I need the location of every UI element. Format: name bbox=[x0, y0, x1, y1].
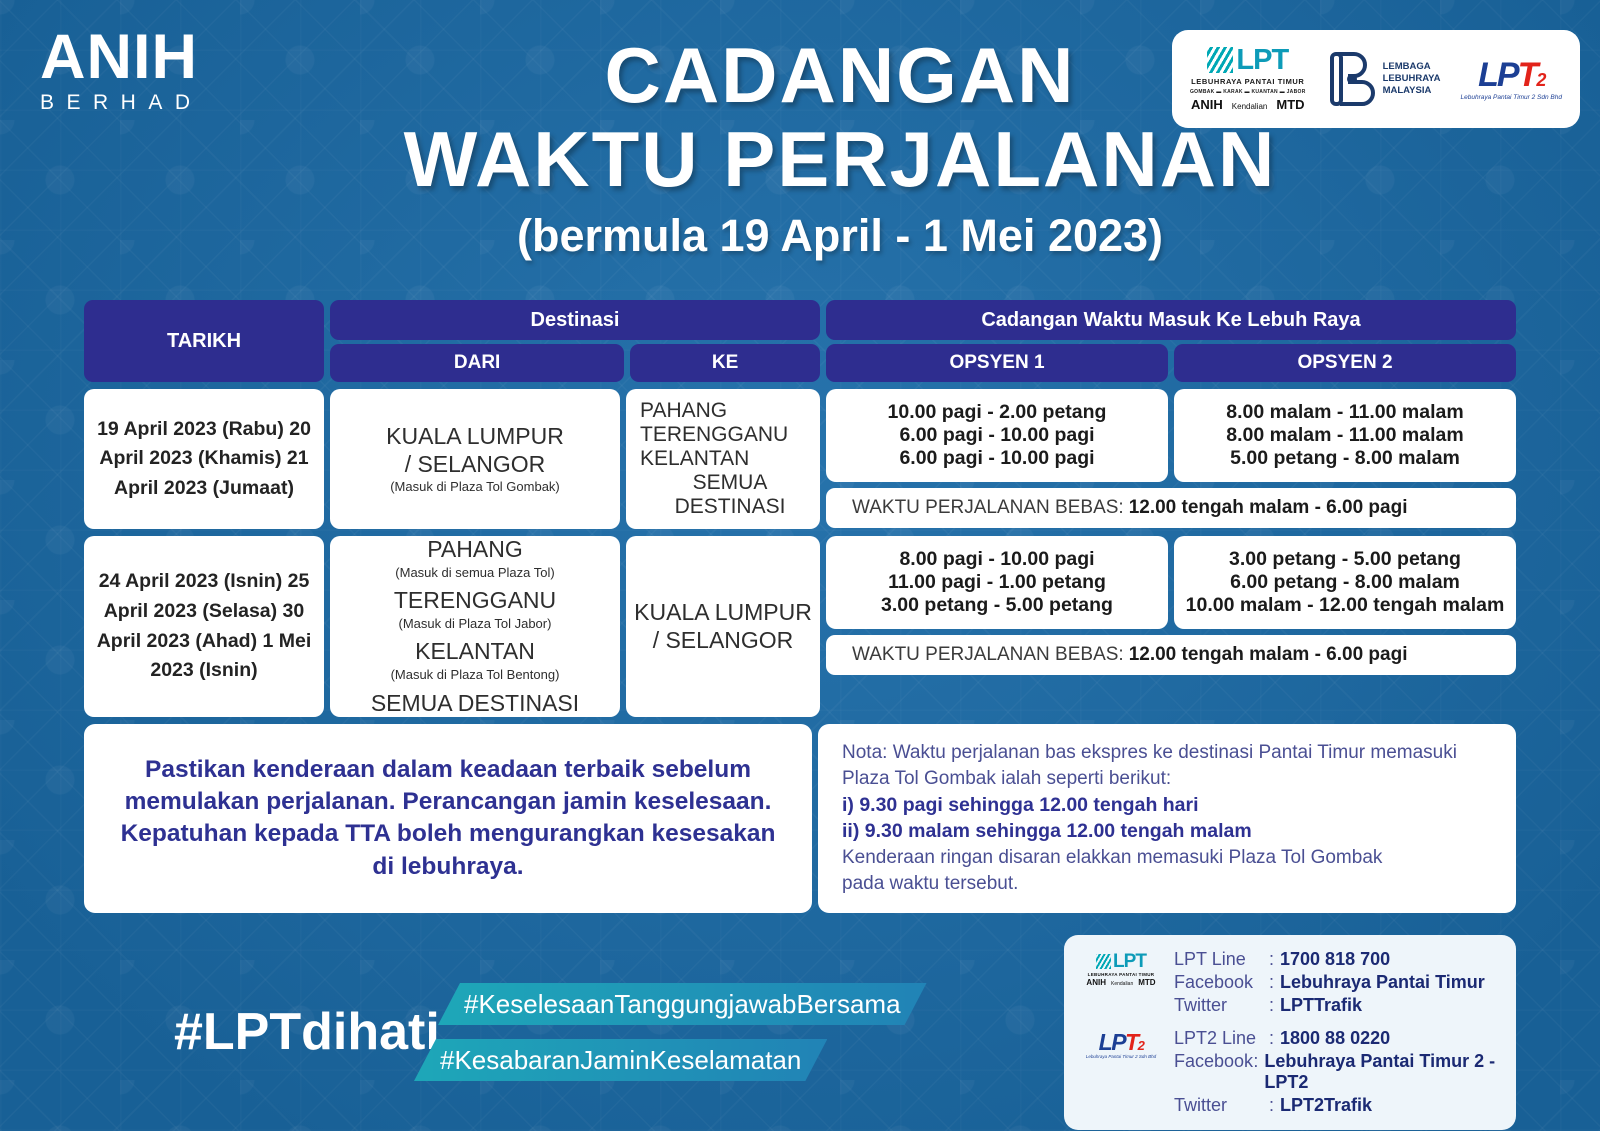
destination-item: PAHANG bbox=[640, 399, 727, 423]
contact-value[interactable]: 1800 88 0220 bbox=[1280, 1028, 1390, 1049]
contact-value[interactable]: LPT2Trafik bbox=[1280, 1095, 1372, 1116]
column-header-cadangan: Cadangan Waktu Masuk Ke Lebuh Raya bbox=[826, 300, 1516, 340]
column-header-destinasi: Destinasi bbox=[330, 300, 820, 340]
llm-line3: MALAYSIA bbox=[1383, 85, 1441, 97]
contact-separator: : bbox=[1269, 995, 1274, 1016]
origin-note: (Masuk di semua Plaza Tol) bbox=[395, 565, 554, 581]
lpt-mtd-label: MTD bbox=[1276, 97, 1304, 112]
lpt-anih-label: ANIH bbox=[1086, 978, 1106, 987]
poster-header: ANIH BERHAD CADANGAN WAKTU PERJALANAN (b… bbox=[0, 0, 1600, 300]
lpt2-wordmark-blue: LP bbox=[1099, 1029, 1125, 1055]
lpt-kendalian-label: Kendalian bbox=[1111, 981, 1133, 987]
nota-item1: i) 9.30 pagi sehingga 12.00 tengah hari bbox=[842, 792, 1492, 819]
advice-panel: Pastikan kenderaan dalam keadaan terbaik… bbox=[84, 724, 812, 912]
cell-opsyen1: 10.00 pagi - 2.00 petang 6.00 pagi - 10.… bbox=[826, 389, 1168, 482]
column-header-ke: KE bbox=[630, 344, 820, 382]
lpt2-wordmark-num: 2 bbox=[1536, 70, 1544, 90]
lpt2-wordmark-num: 2 bbox=[1138, 1038, 1144, 1053]
destination-item: TERENGGANU bbox=[640, 423, 788, 447]
free-travel-value: 12.00 tengah malam - 6.00 pagi bbox=[1129, 644, 1408, 666]
free-travel-bar: WAKTU PERJALANAN BEBAS: 12.00 tengah mal… bbox=[826, 488, 1516, 528]
nota-item2: ii) 9.30 malam sehingga 12.00 tengah mal… bbox=[842, 818, 1492, 845]
column-group-destinasi: Destinasi DARI KE bbox=[330, 300, 820, 382]
lpt2-wordmark-red: T bbox=[1518, 56, 1537, 94]
origin-note: (Masuk di Plaza Tol Jabor) bbox=[394, 616, 556, 632]
contact-line: LPT Line : 1700 818 700 bbox=[1174, 949, 1485, 970]
table-row: 24 April 2023 (Isnin) 25 April 2023 (Sel… bbox=[84, 536, 1516, 717]
time-slot: 3.00 petang - 5.00 petang bbox=[881, 594, 1113, 617]
origin-name: PAHANG bbox=[395, 536, 554, 564]
cell-opsyen2: 8.00 malam - 11.00 malam 8.00 malam - 11… bbox=[1174, 389, 1516, 482]
lpt-kendalian-label: Kendalian bbox=[1232, 102, 1268, 111]
contact-separator: : bbox=[1269, 972, 1274, 993]
lpt-tagline: LEBUHRAYA PANTAI TIMUR bbox=[1088, 972, 1155, 977]
contact-separator: : bbox=[1269, 1095, 1274, 1116]
advice-text: Pastikan kenderaan dalam keadaan terbaik… bbox=[108, 754, 788, 883]
origin-name: KELANTAN bbox=[391, 638, 560, 666]
column-header-tarikh: TARIKH bbox=[84, 300, 324, 382]
free-travel-label: WAKTU PERJALANAN BEBAS: bbox=[852, 644, 1124, 666]
contact-value[interactable]: Lebuhraya Pantai Timur 2 - LPT2 bbox=[1264, 1051, 1498, 1093]
free-travel-value: 12.00 tengah malam - 6.00 pagi bbox=[1129, 497, 1408, 519]
cell-tarikh: 24 April 2023 (Isnin) 25 April 2023 (Sel… bbox=[84, 536, 324, 717]
time-slot: 10.00 pagi - 2.00 petang bbox=[888, 401, 1107, 424]
origin-name: KUALA LUMPUR / SELANGOR bbox=[386, 423, 564, 478]
lembaga-lebuhraya-malaysia-logo: LEMBAGA LEBUHRAYA MALAYSIA bbox=[1326, 48, 1441, 110]
contact-line: Facebook : Lebuhraya Pantai Timur bbox=[1174, 972, 1485, 993]
origin-name: SEMUA DESTINASI bbox=[371, 690, 579, 718]
lpt-anih-label: ANIH bbox=[1191, 97, 1223, 112]
table-header-row: TARIKH Destinasi DARI KE Cadangan Waktu … bbox=[84, 300, 1516, 382]
time-slot: 8.00 malam - 11.00 malam bbox=[1226, 424, 1463, 447]
origin-note: (Masuk di Plaza Tol Bentong) bbox=[391, 667, 560, 683]
contact-label: Facebook bbox=[1174, 972, 1269, 993]
contact-separator: : bbox=[1269, 1028, 1274, 1049]
options-column: 8.00 pagi - 10.00 pagi 11.00 pagi - 1.00… bbox=[826, 536, 1516, 717]
schedule-table: TARIKH Destinasi DARI KE Cadangan Waktu … bbox=[84, 300, 1516, 913]
origin-note: (Masuk di Plaza Tol Gombak) bbox=[386, 479, 564, 495]
cell-ke: KUALA LUMPUR / SELANGOR bbox=[626, 536, 820, 717]
contact-lpt2-logo: LPT2 Lebuhraya Pantai Timur 2 Sdn Bhd bbox=[1082, 1028, 1160, 1059]
page-title-line2: WAKTU PERJALANAN bbox=[80, 120, 1600, 198]
time-slot: 11.00 pagi - 1.00 petang bbox=[888, 571, 1106, 594]
llm-line1: LEMBAGA bbox=[1383, 61, 1441, 73]
llm-line2: LEBUHRAYA bbox=[1383, 73, 1441, 85]
hashtag-banner-2: #KesabaranJaminKeselamatan bbox=[414, 1039, 827, 1081]
column-header-opsyen2: OPSYEN 2 bbox=[1174, 344, 1516, 382]
lpt-places: GOMBAK ▬ KARAK ▬ KUANTAN ▬ JABOR bbox=[1190, 89, 1306, 95]
contact-separator: : bbox=[1253, 1051, 1258, 1093]
lpt-bars-icon bbox=[1096, 954, 1111, 969]
lpt2-tagline: Lebuhraya Pantai Timur 2 Sdn Bhd bbox=[1461, 94, 1562, 101]
nota-line3: Kenderaan ringan disaran elakkan memasuk… bbox=[842, 845, 1492, 871]
time-slot: 6.00 pagi - 10.00 pagi bbox=[899, 447, 1094, 470]
origin-name: TERENGGANU bbox=[394, 587, 556, 615]
contact-value[interactable]: 1700 818 700 bbox=[1280, 949, 1390, 970]
contact-line: Facebook : Lebuhraya Pantai Timur 2 - LP… bbox=[1174, 1051, 1498, 1093]
contact-lpt-logo: LPT LEBUHRAYA PANTAI TIMUR ANIH Kendalia… bbox=[1082, 949, 1160, 987]
contact-line: LPT2 Line : 1800 88 0220 bbox=[1174, 1028, 1498, 1049]
lpt-mtd-label: MTD bbox=[1138, 978, 1155, 987]
nota-line2: Plaza Tol Gombak ialah seperti berikut: bbox=[842, 766, 1492, 792]
contact-group-lpt2: LPT2 Lebuhraya Pantai Timur 2 Sdn Bhd LP… bbox=[1082, 1028, 1498, 1116]
destination-item: KELANTAN bbox=[640, 447, 749, 471]
contact-label: Facebook bbox=[1174, 1051, 1253, 1093]
lpt2-wordmark-blue: LP bbox=[1478, 56, 1517, 94]
notes-row: Pastikan kenderaan dalam keadaan terbaik… bbox=[84, 724, 1516, 912]
time-slot: 8.00 malam - 11.00 malam bbox=[1226, 401, 1463, 424]
column-header-opsyen1: OPSYEN 1 bbox=[826, 344, 1168, 382]
time-slot: 5.00 petang - 8.00 malam bbox=[1230, 447, 1460, 470]
cell-opsyen2: 3.00 petang - 5.00 petang 6.00 petang - … bbox=[1174, 536, 1516, 629]
time-slot: 6.00 pagi - 10.00 pagi bbox=[899, 424, 1094, 447]
column-header-dari: DARI bbox=[330, 344, 624, 382]
contact-line: Twitter : LPTTrafik bbox=[1174, 995, 1485, 1016]
destination-item: SEMUA DESTINASI bbox=[640, 471, 820, 519]
lpt2-logo: LPT2 Lebuhraya Pantai Timur 2 Sdn Bhd bbox=[1461, 58, 1562, 101]
bottom-band: #LPTdihati #KeselesaanTanggungjawabBersa… bbox=[0, 935, 1600, 1130]
time-slot: 10.00 malam - 12.00 tengah malam bbox=[1186, 594, 1505, 617]
table-row: 19 April 2023 (Rabu) 20 April 2023 (Kham… bbox=[84, 389, 1516, 529]
cell-tarikh: 19 April 2023 (Rabu) 20 April 2023 (Kham… bbox=[84, 389, 324, 529]
main-hashtag: #LPTdihati bbox=[84, 1002, 414, 1062]
lpt2-wordmark-red: T bbox=[1125, 1029, 1138, 1055]
partner-logo-bar: E8 LPT LEBUHRAYA PANTAI TIMUR GOMBAK ▬ K… bbox=[1172, 30, 1580, 128]
free-travel-label: WAKTU PERJALANAN BEBAS: bbox=[852, 497, 1124, 519]
contact-label: Twitter bbox=[1174, 1095, 1269, 1116]
lpt-bars-icon bbox=[1207, 47, 1233, 73]
cell-dari: PAHANG (Masuk di semua Plaza Tol) TERENG… bbox=[330, 536, 620, 717]
options-column: 10.00 pagi - 2.00 petang 6.00 pagi - 10.… bbox=[826, 389, 1516, 529]
cell-opsyen1: 8.00 pagi - 10.00 pagi 11.00 pagi - 1.00… bbox=[826, 536, 1168, 629]
hashtag-banners: #KeselesaanTanggungjawabBersama #Kesabar… bbox=[414, 983, 1034, 1081]
llm-mark-icon bbox=[1326, 48, 1378, 110]
column-group-cadangan: Cadangan Waktu Masuk Ke Lebuh Raya OPSYE… bbox=[826, 300, 1516, 382]
lpt-logo: E8 LPT LEBUHRAYA PANTAI TIMUR GOMBAK ▬ K… bbox=[1190, 46, 1306, 112]
contact-separator: : bbox=[1269, 949, 1274, 970]
cell-ke: PAHANG TERENGGANU KELANTAN SEMUA DESTINA… bbox=[626, 389, 820, 529]
time-slot: 8.00 pagi - 10.00 pagi bbox=[899, 548, 1094, 571]
page-subtitle: (bermula 19 April - 1 Mei 2023) bbox=[80, 210, 1600, 262]
contact-value[interactable]: Lebuhraya Pantai Timur bbox=[1280, 972, 1485, 993]
lpt-wordmark: LPT bbox=[1236, 46, 1288, 75]
nota-line1: Nota: Waktu perjalanan bas ekspres ke de… bbox=[842, 740, 1492, 766]
contact-group-lpt: LPT LEBUHRAYA PANTAI TIMUR ANIH Kendalia… bbox=[1082, 949, 1498, 1016]
contact-panel: LPT LEBUHRAYA PANTAI TIMUR ANIH Kendalia… bbox=[1064, 935, 1516, 1130]
cell-dari: KUALA LUMPUR / SELANGOR (Masuk di Plaza … bbox=[330, 389, 620, 529]
nota-line4: pada waktu tersebut. bbox=[842, 871, 1492, 897]
lpt-tagline: LEBUHRAYA PANTAI TIMUR bbox=[1191, 77, 1304, 86]
contact-label: Twitter bbox=[1174, 995, 1269, 1016]
free-travel-bar: WAKTU PERJALANAN BEBAS: 12.00 tengah mal… bbox=[826, 635, 1516, 675]
contact-value[interactable]: LPTTrafik bbox=[1280, 995, 1362, 1016]
lpt2-tagline: Lebuhraya Pantai Timur 2 Sdn Bhd bbox=[1086, 1054, 1156, 1059]
contact-label: LPT Line bbox=[1174, 949, 1269, 970]
contact-line: Twitter : LPT2Trafik bbox=[1174, 1095, 1498, 1116]
contact-label: LPT2 Line bbox=[1174, 1028, 1269, 1049]
time-slot: 6.00 petang - 8.00 malam bbox=[1230, 571, 1460, 594]
nota-panel: Nota: Waktu perjalanan bas ekspres ke de… bbox=[818, 724, 1516, 912]
time-slot: 3.00 petang - 5.00 petang bbox=[1229, 548, 1461, 571]
lpt-wordmark: LPT bbox=[1113, 952, 1146, 971]
hashtag-banner-1: #KeselesaanTanggungjawabBersama bbox=[438, 983, 927, 1025]
